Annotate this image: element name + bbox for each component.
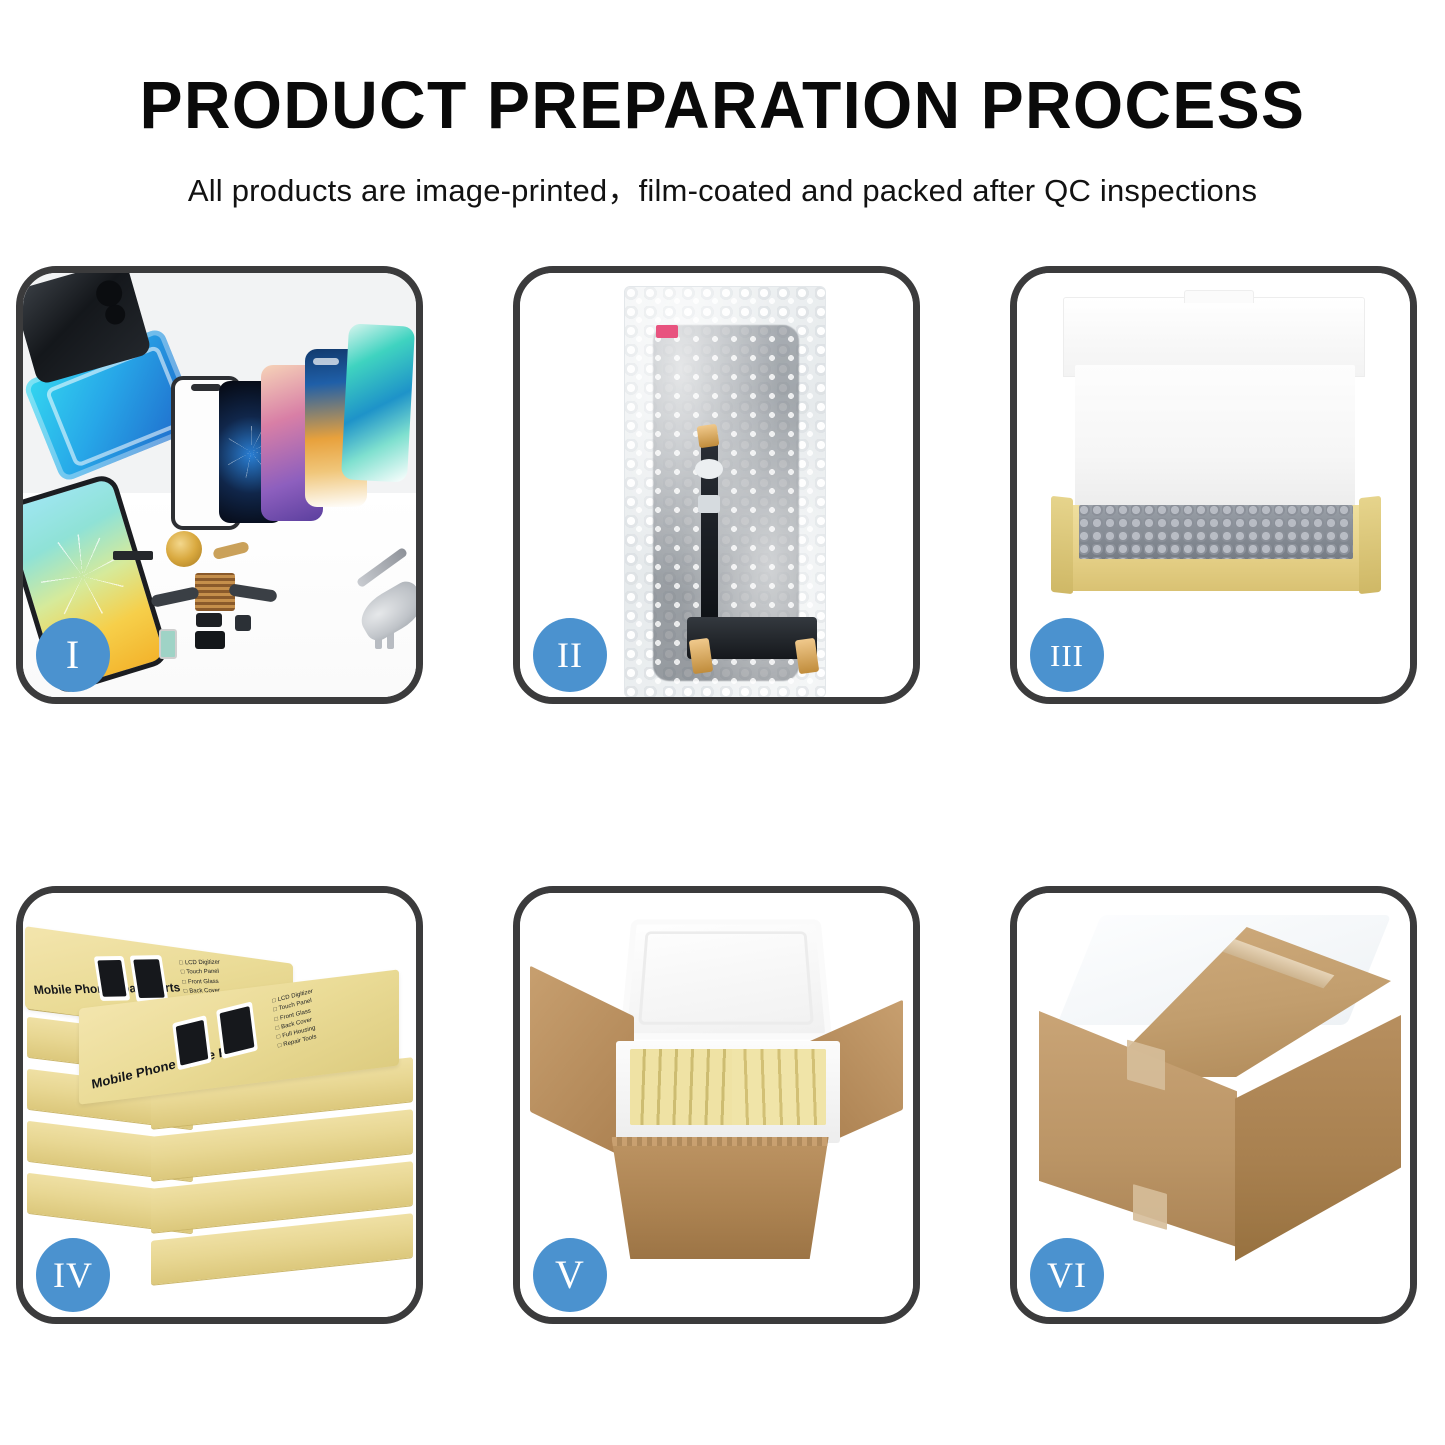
qc-label [656, 325, 678, 338]
gold-contact-1 [697, 424, 720, 449]
step-panel-5[interactable]: V [513, 886, 920, 1324]
earpiece-part [113, 551, 153, 560]
page-title: PRODUCT PREPARATION PROCESS [29, 0, 1416, 139]
packed-yellow-boxes-right [732, 1049, 826, 1125]
teal-phone-image [341, 323, 415, 482]
white-foam-sheet [1075, 365, 1355, 515]
process-row-1: I II [0, 266, 1445, 706]
step-panel-1[interactable]: I [16, 266, 423, 704]
checklist-item: Touch Panel [180, 968, 222, 978]
box-checklist: LCD Digitizer Touch Panel Front Glass Ba… [272, 988, 319, 1053]
page-subtitle: All products are image-printed，film-coat… [0, 139, 1445, 210]
flex-cable [701, 437, 718, 627]
process-grid: I II [0, 266, 1445, 1326]
header: PRODUCT PREPARATION PROCESS All products… [0, 0, 1445, 210]
bubble-wrap-bag [625, 287, 825, 697]
box-product-photo [172, 1015, 212, 1070]
step-badge-4: IV [36, 1238, 110, 1312]
styrofoam-lid [620, 919, 832, 1039]
step-badge-6: VI [1030, 1238, 1104, 1312]
step-badge-5: V [533, 1238, 607, 1312]
step-badge-2: II [533, 618, 607, 692]
sim-tray-part [159, 629, 177, 659]
box-product-photo [130, 955, 169, 1002]
step-panel-4[interactable]: Mobile Phone Spare Parts LCD Digitizer T… [16, 886, 423, 1324]
box-product-photo [94, 956, 131, 1001]
small-module-part-1 [196, 613, 222, 627]
process-row-2: Mobile Phone Spare Parts LCD Digitizer T… [0, 886, 1445, 1326]
foam-cavity [630, 1049, 826, 1125]
carton-front-wall [602, 1137, 838, 1259]
box-product-photo [216, 1001, 258, 1059]
grey-foam-padding [1079, 505, 1353, 559]
step-badge-1: I [36, 618, 110, 692]
step-panel-2[interactable]: II [513, 266, 920, 704]
step-panel-6[interactable]: VI [1010, 886, 1417, 1324]
step-badge-3: III [1030, 618, 1104, 692]
small-module-part-3 [235, 615, 251, 631]
speaker-coil-part [166, 531, 202, 567]
step-panel-3[interactable]: III [1010, 266, 1417, 704]
small-module-part-2 [195, 631, 225, 649]
